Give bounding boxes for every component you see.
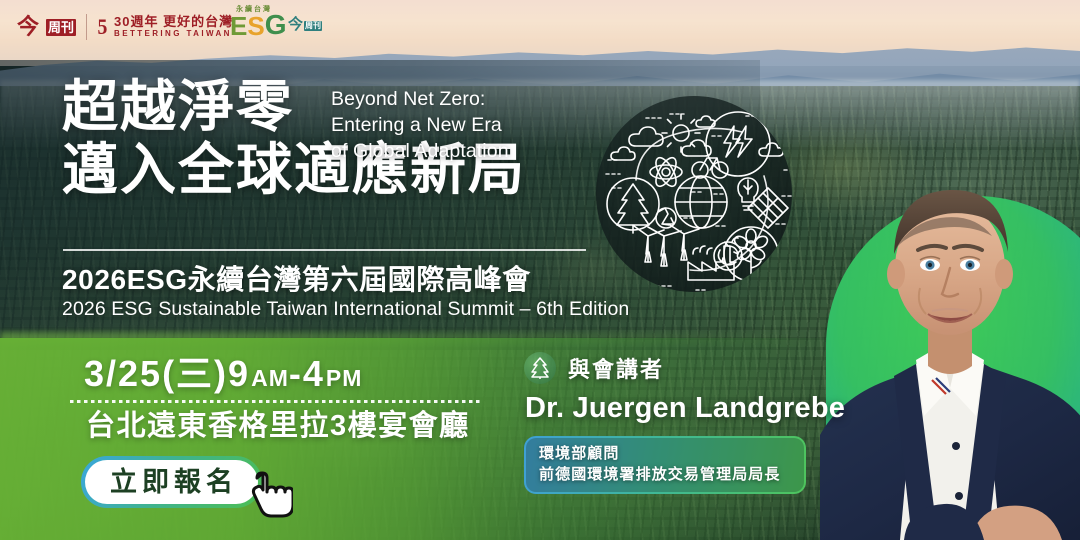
business-today-logo[interactable]: 今 周刊 [14,15,76,39]
hero-title-en-line3: of Global Adaptation [331,138,591,164]
speaker-section-label: 與會講者 [568,352,664,384]
sustainability-icon-collage [596,96,792,292]
esg-tag-b: 周刊 [304,21,322,31]
poster-banner: 今 周刊 5 30週年 更好的台灣 BETTERING TAIWAN 永續台灣 … [0,0,1080,540]
wind-turbine-icon [648,227,681,266]
globe-icon [675,176,727,228]
lightning-bolt-icon [706,112,770,176]
cloud-icon [629,127,663,146]
hero-title-en: Beyond Net Zero: Entering a New Era of G… [331,86,591,164]
subtitle-en: 2026 ESG Sustainable Taiwan Internationa… [62,298,629,321]
cloud-icon [759,143,783,156]
anniversary-logo: 5 30週年 更好的台灣 BETTERING TAIWAN [97,15,233,39]
hero-title-en-line1: Beyond Net Zero: [331,86,591,112]
esg-logo-tag: 今 周刊 [288,18,322,33]
register-button-label: 立即報名 [105,469,238,496]
pine-tree-icon [524,352,556,384]
register-button[interactable]: 立即報名 [85,460,258,504]
recycle-icon [656,208,676,228]
esg-letter-s: S [247,14,264,39]
esg-letter-g: G [265,12,287,39]
logo-primary-main: 今 [14,15,42,39]
header-logo-row: 今 周刊 5 30週年 更好的台灣 BETTERING TAIWAN [14,7,233,47]
logo-primary-box: 周刊 [46,19,76,36]
horizontal-divider [63,249,586,251]
event-venue: 台北遠東香格里拉3樓宴會廳 [86,412,470,441]
hero-title-en-line2: Entering a New Era [331,112,591,138]
cloud-icon [611,147,635,160]
esg-letter-e: E [230,14,247,39]
event-date-pm: PM [326,367,363,390]
anniversary-line1: 30週年 更好的台灣 [114,15,233,29]
speaker-name: Dr. Juergen Landgrebe [525,392,845,425]
flower-icon [724,227,778,281]
event-date-am: AM [251,367,289,390]
connector-arc [636,128,768,270]
hand-pointer-cursor-icon [249,466,293,518]
wind-turbine-icon [670,225,699,260]
event-datetime: 3/25(三)9 AM -4 PM [84,356,362,392]
wind-turbine-icon [634,226,664,262]
esg-logo[interactable]: 永續台灣 E S G 今 周刊 [224,4,320,46]
speaker-credential-line2: 前德國環境署排放交易管理局局長 [539,466,791,485]
dotted-divider [70,400,480,403]
esg-tag-a: 今 [288,18,303,33]
swirl-mark-icon: 5 [98,16,108,38]
pine-tree-icon [607,178,659,233]
speaker-credential-line1: 環境部顧問 [539,445,791,464]
logo-divider [86,14,87,40]
anniversary-line2: BETTERING TAIWAN [114,30,233,39]
event-date-dash: -4 [289,356,325,392]
speaker-credential-box: 環境部顧問 前德國環境署排放交易管理局局長 [524,436,806,494]
event-date-main: 3/25(三)9 [84,356,250,392]
speaker-portrait [820,128,1080,540]
atom-icon [650,155,682,190]
subtitle-cn: 2026ESG永續台灣第六屆國際高峰會 [62,258,531,298]
speaker-section-header: 與會講者 [524,352,664,384]
factory-icon [688,246,734,280]
